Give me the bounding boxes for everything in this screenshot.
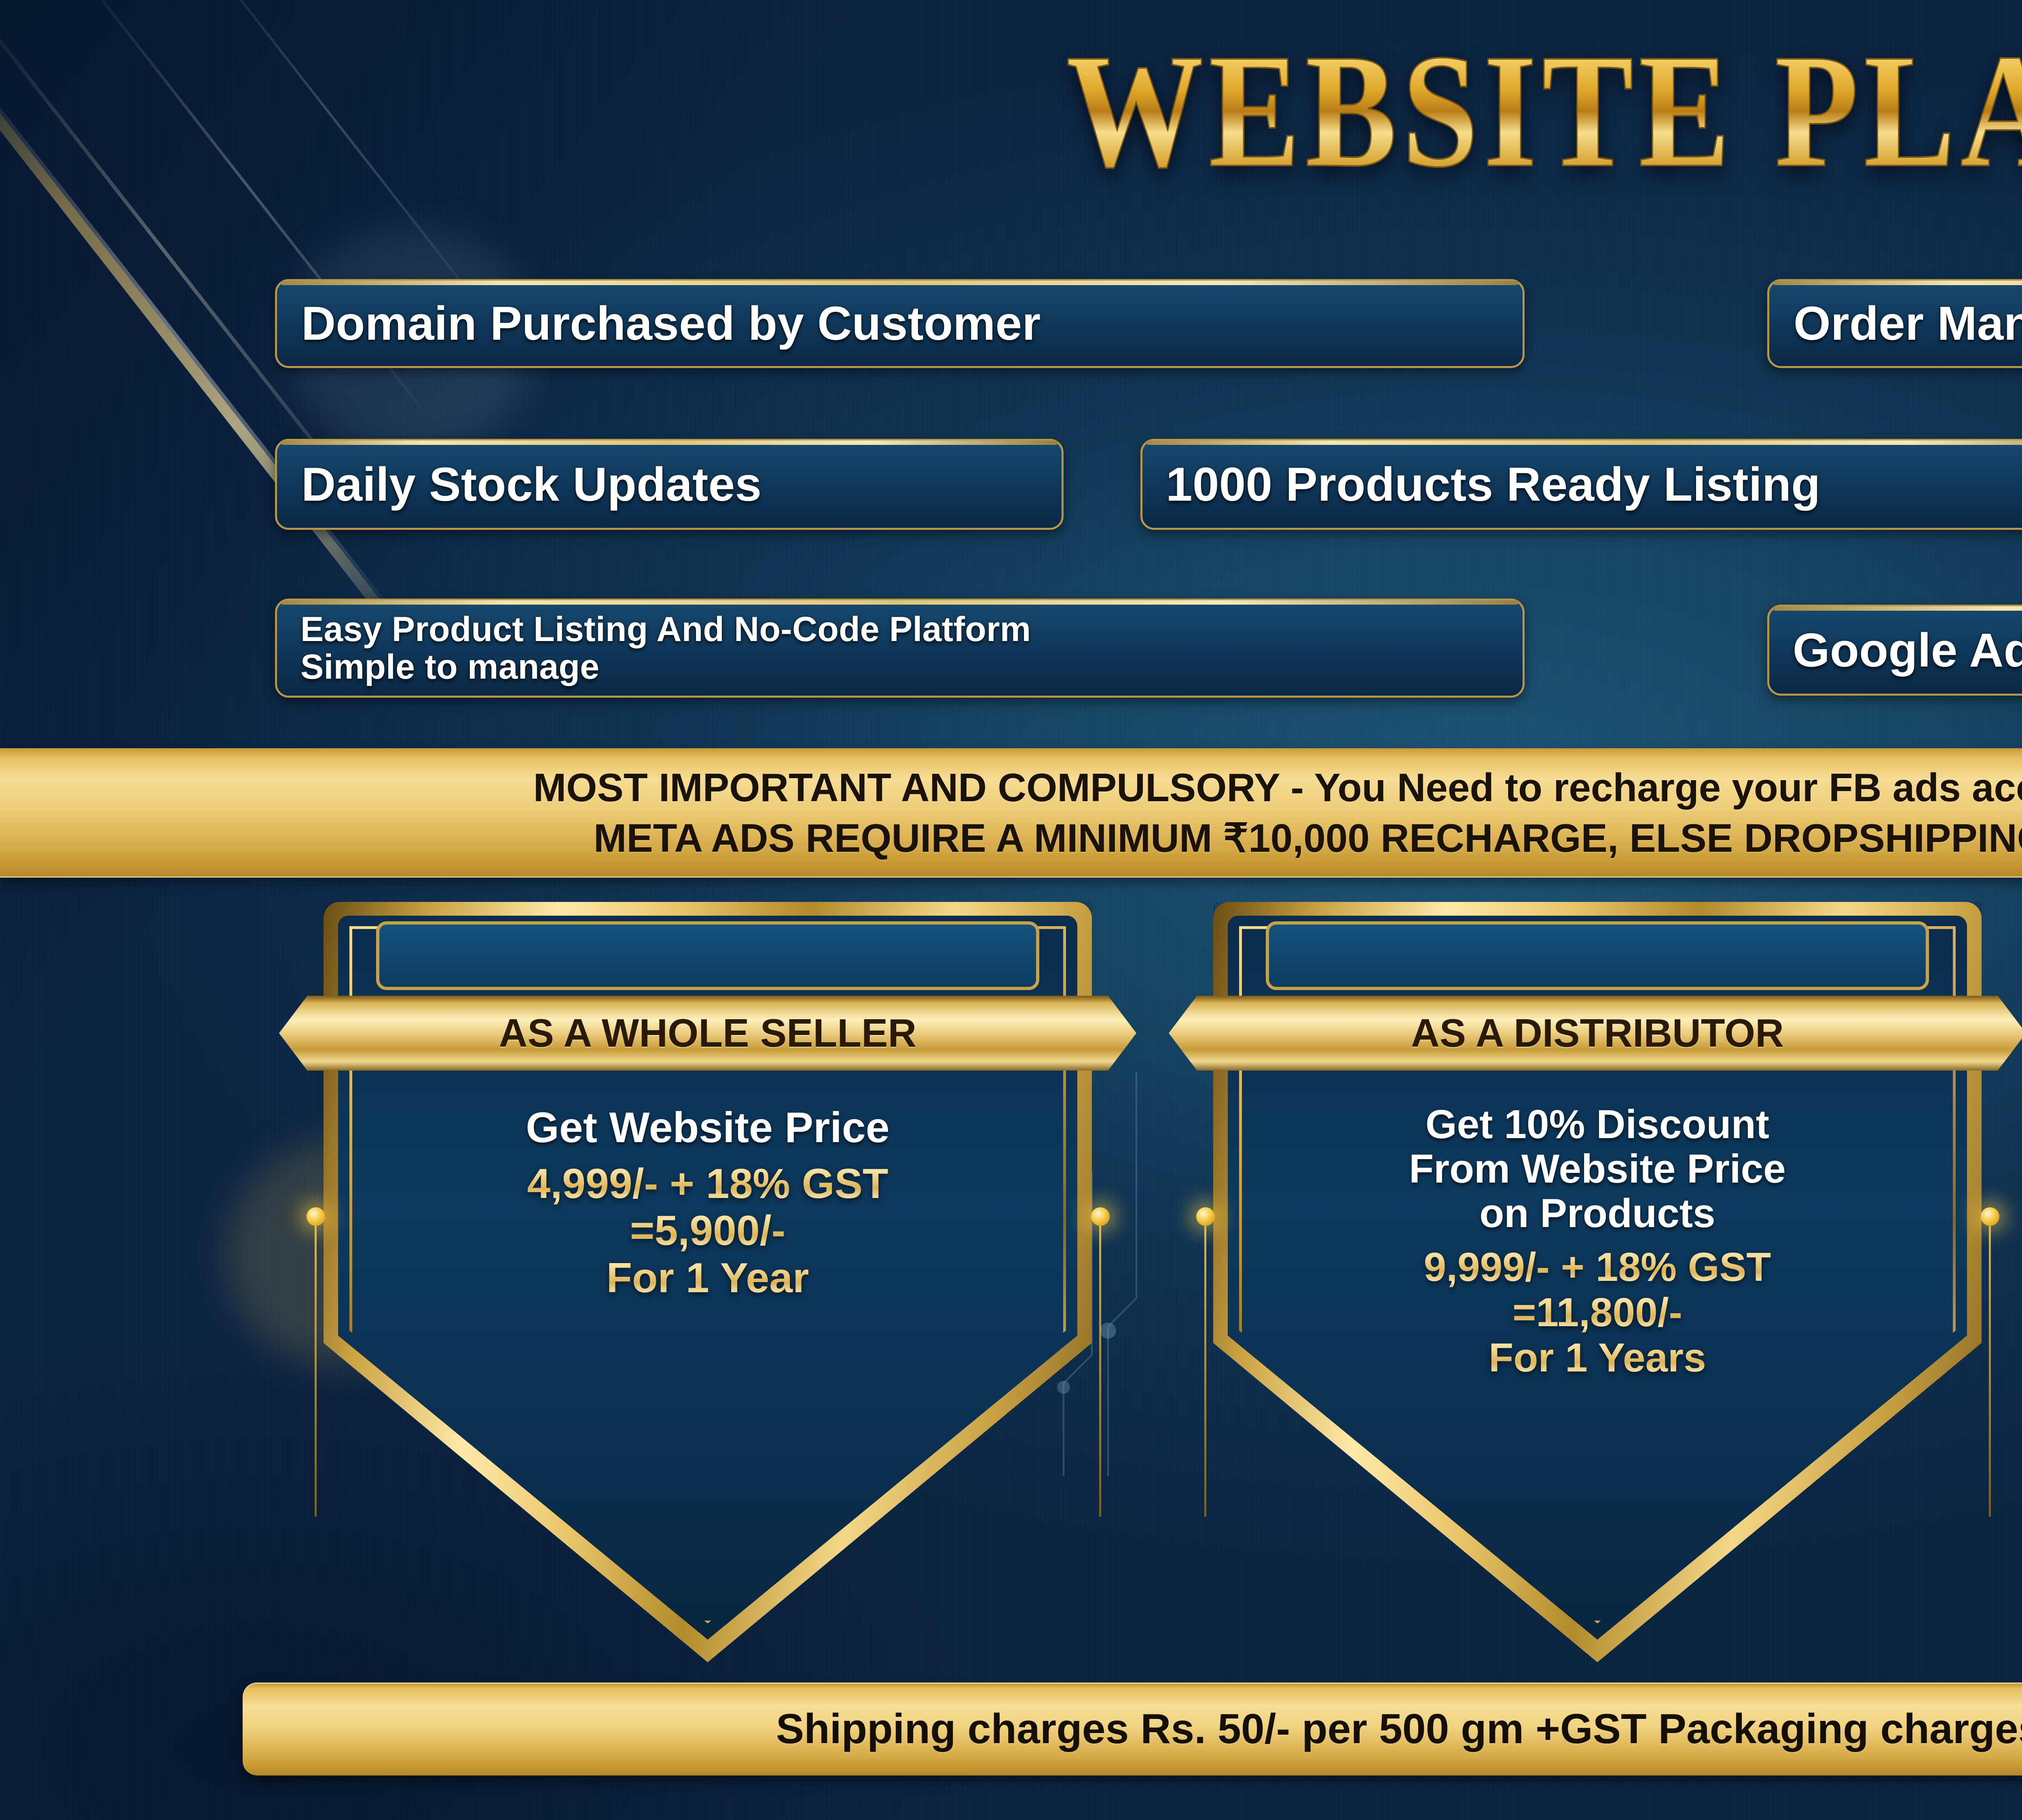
feature-label: Google Ads & Meta Pixel Integration (1793, 623, 2022, 678)
plan-gold-line: For 1 Year (384, 1255, 1031, 1302)
plan-card-whole-seller[interactable]: AS A WHOLE SELLER Get Website Price 4,99… (324, 902, 1092, 1662)
compulsory-line-2: META ADS REQUIRE A MINIMUM ₹10,000 RECHA… (594, 815, 2022, 861)
feature-pill-daily-stock-updates: Daily Stock Updates (275, 439, 1064, 530)
pill-top-highlight (281, 281, 1519, 285)
plan-gold-line: 9,999/- + 18% GST (1274, 1244, 1921, 1290)
website-plan-poster: WEBSITE PLAN Domain Purchased by Custome… (0, 0, 2022, 1820)
plan-ribbon: AS A WHOLE SELLER (279, 996, 1136, 1071)
plan-content: Get Website Price 4,999/- + 18% GST =5,9… (384, 1104, 1031, 1302)
plan-gold-line: =5,900/- (384, 1207, 1031, 1254)
pin-dot-right (1091, 1207, 1110, 1226)
plan-gold-line: For 1 Years (1274, 1335, 1921, 1380)
pin-dot-right (1981, 1207, 1999, 1226)
pin-dot-left (307, 1207, 325, 1226)
shipping-charges-banner: Shipping charges Rs. 50/- per 500 gm +GS… (243, 1682, 2022, 1776)
plan-card-distributor[interactable]: AS A DISTRIBUTOR Get 10% Discount From W… (1213, 902, 1982, 1662)
pin-line-right (1099, 1217, 1101, 1517)
plan-white-line: From Website Price (1274, 1147, 1921, 1191)
compulsory-line-1: MOST IMPORTANT AND COMPULSORY - You Need… (533, 765, 2022, 811)
feature-label: Daily Stock Updates (301, 457, 761, 512)
compulsory-rest: You Need to recharge your FB ads account… (1314, 765, 2022, 810)
feature-pill-domain-purchased: Domain Purchased by Customer (275, 279, 1525, 368)
plan-white-line: Get 10% Discount (1274, 1102, 1921, 1147)
feature-label: Order Management Panel (1794, 296, 2022, 351)
shield-top-window (376, 921, 1039, 990)
plan-gold-line: 4,999/- + 18% GST (384, 1160, 1031, 1207)
pill-top-highlight (1146, 440, 2022, 445)
pin-line-left (315, 1217, 317, 1517)
compulsory-notice-banner: MOST IMPORTANT AND COMPULSORY - You Need… (0, 748, 2022, 878)
plan-white-line: Get Website Price (384, 1104, 1031, 1151)
pin-line-right (1989, 1217, 1991, 1517)
shipping-charges-text: Shipping charges Rs. 50/- per 500 gm +GS… (776, 1705, 2022, 1753)
feature-label-line-1: Easy Product Listing And No-Code Platfor… (300, 611, 1031, 648)
pin-dot-left (1196, 1207, 1215, 1226)
plan-ribbon-label: AS A DISTRIBUTOR (1411, 1010, 1784, 1056)
feature-label: Domain Purchased by Customer (301, 296, 1041, 351)
feature-label-line-2: Simple to manage (300, 648, 599, 686)
feature-pill-1000-products: 1000 Products Ready Listing (1140, 439, 2022, 530)
plan-content: Get 10% Discount From Website Price on P… (1274, 1102, 1921, 1380)
feature-label: 1000 Products Ready Listing (1166, 457, 1821, 512)
feature-pill-order-management: Order Management Panel (1767, 279, 2022, 368)
plan-gold-line: =11,800/- (1274, 1290, 1921, 1335)
page-title: WEBSITE PLAN (0, 44, 2022, 178)
pill-top-highlight (281, 600, 1519, 605)
feature-pill-easy-product-listing: Easy Product Listing And No-Code Platfor… (275, 599, 1525, 698)
plan-ribbon: AS A DISTRIBUTOR (1169, 996, 2022, 1071)
plan-ribbon-label: AS A WHOLE SELLER (499, 1010, 917, 1056)
pill-top-highlight (281, 440, 1058, 445)
pill-top-highlight (1773, 606, 2022, 611)
pin-line-left (1204, 1217, 1206, 1517)
plan-white-line: on Products (1274, 1191, 1921, 1236)
shield-top-window (1266, 921, 1929, 990)
feature-pill-google-ads-meta-pixel: Google Ads & Meta Pixel Integration (1767, 605, 2022, 696)
compulsory-strong: MOST IMPORTANT AND COMPULSORY - (533, 765, 1314, 810)
pill-top-highlight (1773, 281, 2022, 285)
page-title-text: WEBSITE PLAN (1066, 30, 2022, 193)
